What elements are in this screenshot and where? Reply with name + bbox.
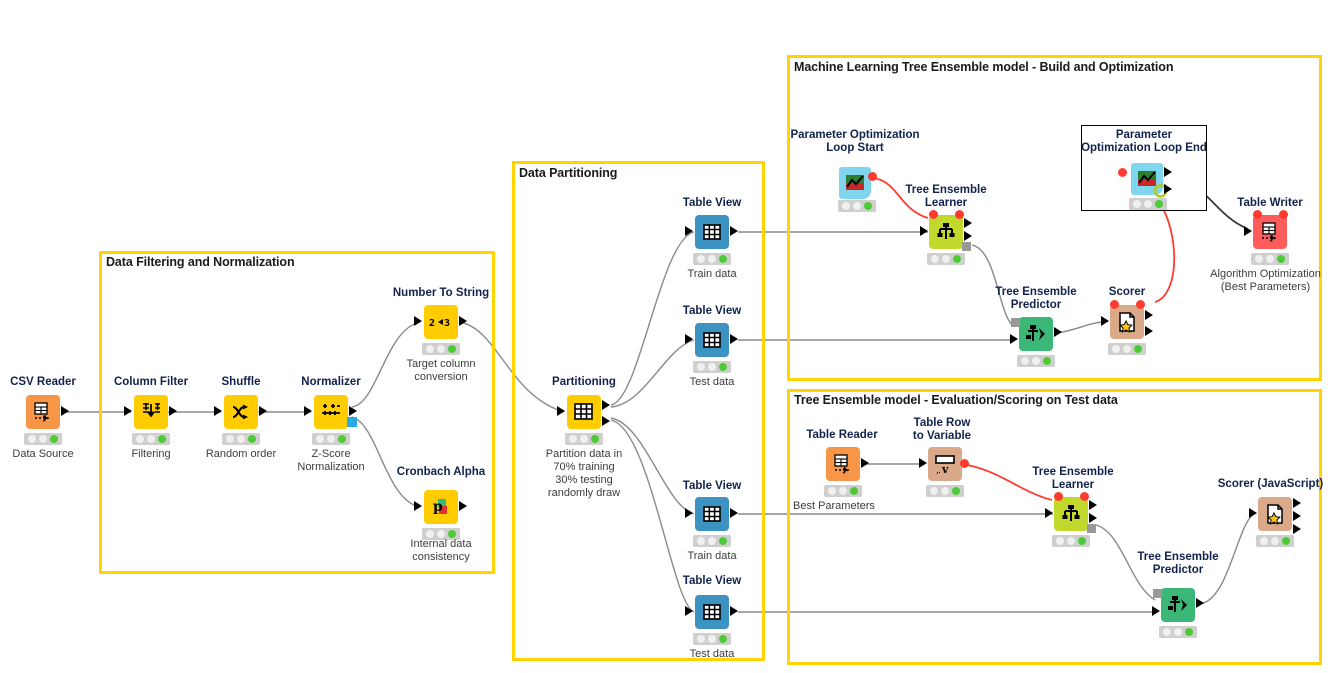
node-title-table-view-2: Table View xyxy=(660,305,764,318)
status-table-view-1 xyxy=(693,253,731,265)
port-out-cronbach-alpha[interactable] xyxy=(459,501,467,511)
node-table-reader[interactable] xyxy=(826,447,860,481)
node-title-table-reader: Table Reader xyxy=(790,429,894,442)
port-variable-out-tree-learner-2[interactable] xyxy=(1080,492,1089,501)
port-out-scorer-b[interactable] xyxy=(1145,326,1153,336)
status-table-reader xyxy=(824,485,862,497)
port-variable-in-param-loop-end[interactable] xyxy=(1118,168,1127,177)
status-scorer-javascript xyxy=(1256,535,1294,547)
node-tree-ensemble-learner-1[interactable] xyxy=(929,215,963,249)
node-title-table-row-to-variable: Table Row to Variable xyxy=(890,417,994,443)
port-in-scorer[interactable] xyxy=(1101,316,1109,326)
svg-text:2: 2 xyxy=(429,318,435,329)
node-title-shuffle: Shuffle xyxy=(191,376,291,389)
node-column-filter[interactable] xyxy=(134,395,168,429)
number-to-string-icon: 2 3 xyxy=(428,314,454,330)
node-sub-table-view-4: Test data xyxy=(660,648,764,661)
node-table-writer[interactable] xyxy=(1253,215,1287,249)
port-variable-in-tree-learner-2[interactable] xyxy=(1054,492,1063,501)
group-title-data-filtering: Data Filtering and Normalization xyxy=(103,255,298,269)
node-cronbach-alpha[interactable]: p xyxy=(424,490,458,524)
status-tree-predictor-1 xyxy=(1017,355,1055,367)
port-out-scorer-javascript-c[interactable] xyxy=(1293,524,1301,534)
status-table-row-to-variable xyxy=(926,485,964,497)
port-out-table-view-1[interactable] xyxy=(730,226,738,236)
node-title-csv-reader: CSV Reader xyxy=(0,376,86,389)
status-tree-predictor-2 xyxy=(1159,626,1197,638)
port-in-scorer-javascript[interactable] xyxy=(1249,508,1257,518)
node-title-column-filter: Column Filter xyxy=(101,376,201,389)
node-title-param-loop-end: Parameter Optimization Loop End xyxy=(1078,129,1210,155)
port-out-param-loop-end-a[interactable] xyxy=(1164,167,1172,177)
node-sub-shuffle: Random order xyxy=(191,448,291,461)
table-grid-icon xyxy=(702,602,722,622)
port-out-tree-predictor-1[interactable] xyxy=(1054,327,1062,337)
port-in-table-view-4[interactable] xyxy=(685,606,693,616)
tree-predict-icon xyxy=(1025,323,1047,345)
status-scorer xyxy=(1108,343,1146,355)
port-in-partitioning[interactable] xyxy=(557,406,565,416)
port-in-tree-predictor-1[interactable] xyxy=(1010,334,1018,344)
port-in-number-to-string[interactable] xyxy=(414,316,422,326)
svg-text:p: p xyxy=(433,499,443,515)
scorer-document-icon xyxy=(1264,503,1286,525)
node-tree-ensemble-learner-2[interactable] xyxy=(1054,497,1088,531)
port-out-csv-reader[interactable] xyxy=(61,406,69,416)
port-out-scorer-javascript-a[interactable] xyxy=(1293,498,1301,508)
node-title-table-view-3: Table View xyxy=(660,480,764,493)
status-table-view-2 xyxy=(693,361,731,373)
node-sub-normalizer: Z-Score Normalization xyxy=(281,448,381,474)
port-in-normalizer[interactable] xyxy=(304,406,312,416)
port-out-shuffle[interactable] xyxy=(259,406,267,416)
node-title-cronbach-alpha: Cronbach Alpha xyxy=(379,466,503,479)
status-param-loop-end xyxy=(1129,198,1167,210)
node-title-scorer-javascript: Scorer (JavaScript) xyxy=(1208,478,1333,491)
port-out-tree-learner-1-b[interactable] xyxy=(964,231,972,241)
node-sub-csv-reader: Data Source xyxy=(0,448,86,461)
port-variable-out-tree-learner-1[interactable] xyxy=(955,210,964,219)
port-out-tree-predictor-2[interactable] xyxy=(1196,598,1204,608)
port-model-out-tree-learner-2[interactable] xyxy=(1087,524,1096,533)
port-variable-out-param-loop-start[interactable] xyxy=(868,172,877,181)
node-sub-number-to-string: Target column conversion xyxy=(379,358,503,384)
tree-predict-icon xyxy=(1167,594,1189,616)
node-sub-partitioning: Partition data in 70% training 30% testi… xyxy=(520,448,648,500)
port-out-scorer-javascript-b[interactable] xyxy=(1293,511,1301,521)
node-title-tree-learner-1: Tree Ensemble Learner xyxy=(888,184,1004,210)
node-title-table-writer: Table Writer xyxy=(1215,197,1325,210)
node-title-param-loop-start: Parameter Optimization Loop Start xyxy=(782,129,928,155)
port-out-number-to-string[interactable] xyxy=(459,316,467,326)
status-normalizer xyxy=(312,433,350,445)
port-out-column-filter[interactable] xyxy=(169,406,177,416)
cronbach-alpha-icon: p xyxy=(430,496,452,518)
port-model-in-tree-predictor-2[interactable] xyxy=(1153,589,1162,598)
table-arrow-icon xyxy=(32,401,54,423)
port-out-param-loop-end-b[interactable] xyxy=(1164,184,1172,194)
node-sub-table-view-2: Test data xyxy=(660,376,764,389)
table-grid-icon xyxy=(702,330,722,350)
port-out-tree-learner-1-a[interactable] xyxy=(964,218,972,228)
normalize-icon xyxy=(320,401,342,423)
node-table-row-to-variable[interactable]: . v , xyxy=(928,447,962,481)
status-table-view-3 xyxy=(693,535,731,547)
port-variable-out-table-writer[interactable] xyxy=(1279,210,1288,219)
group-title-evaluation: Tree Ensemble model - Evaluation/Scoring… xyxy=(791,393,1121,407)
node-number-to-string[interactable]: 2 3 xyxy=(424,305,458,339)
status-tree-learner-1 xyxy=(927,253,965,265)
tree-model-icon xyxy=(1060,503,1082,525)
port-in-tree-predictor-2[interactable] xyxy=(1152,606,1160,616)
node-table-view-2[interactable] xyxy=(695,323,729,357)
node-shuffle[interactable] xyxy=(224,395,258,429)
node-tree-ensemble-predictor-1[interactable] xyxy=(1019,317,1053,351)
status-column-filter xyxy=(132,433,170,445)
table-read-icon xyxy=(832,453,854,475)
port-variable-out-scorer[interactable] xyxy=(1136,300,1145,309)
port-out-partitioning-test[interactable] xyxy=(602,416,610,426)
chart-line-icon xyxy=(844,172,866,194)
node-sub-cronbach-alpha: Internal data consistency xyxy=(379,538,503,564)
node-title-tree-predictor-1: Tree Ensemble Predictor xyxy=(978,286,1094,312)
status-tree-learner-2 xyxy=(1052,535,1090,547)
node-table-view-3[interactable] xyxy=(695,497,729,531)
node-partitioning[interactable] xyxy=(567,395,601,429)
status-shuffle xyxy=(222,433,260,445)
port-out-table-view-3[interactable] xyxy=(730,508,738,518)
status-table-writer xyxy=(1251,253,1289,265)
port-variable-out-table-row-to-variable[interactable] xyxy=(960,459,969,468)
row-to-variable-icon: . v , xyxy=(934,453,956,475)
port-model-in-tree-predictor-1[interactable] xyxy=(1011,318,1020,327)
status-csv-reader xyxy=(24,433,62,445)
port-in-shuffle[interactable] xyxy=(214,406,222,416)
port-in-tree-learner-2[interactable] xyxy=(1045,508,1053,518)
node-table-view-1[interactable] xyxy=(695,215,729,249)
node-title-scorer: Scorer xyxy=(1080,286,1174,299)
tree-model-icon xyxy=(935,221,957,243)
port-out-tree-learner-2-a[interactable] xyxy=(1089,500,1097,510)
node-title-tree-learner-2: Tree Ensemble Learner xyxy=(1015,466,1131,492)
node-sub-column-filter: Filtering xyxy=(101,448,201,461)
status-table-view-4 xyxy=(693,633,731,645)
port-variable-in-table-writer[interactable] xyxy=(1253,210,1262,219)
node-sub-table-view-3: Train data xyxy=(660,550,764,563)
port-out-tree-learner-2-b[interactable] xyxy=(1089,513,1097,523)
table-write-icon xyxy=(1259,221,1281,243)
port-in-table-view-3[interactable] xyxy=(685,508,693,518)
node-normalizer[interactable] xyxy=(314,395,348,429)
port-variable-in-tree-learner-1[interactable] xyxy=(929,210,938,219)
port-out-table-view-4[interactable] xyxy=(730,606,738,616)
port-variable-in-scorer[interactable] xyxy=(1110,300,1119,309)
port-in-table-view-1[interactable] xyxy=(685,226,693,236)
status-number-to-string xyxy=(422,343,460,355)
group-title-data-partitioning: Data Partitioning xyxy=(516,166,620,180)
filter-funnel-icon xyxy=(140,401,162,423)
node-title-partitioning: Partitioning xyxy=(528,376,640,389)
port-in-column-filter[interactable] xyxy=(124,406,132,416)
table-grid-icon xyxy=(702,222,722,242)
node-title-table-view-4: Table View xyxy=(660,575,764,588)
svg-text:,: , xyxy=(936,466,939,475)
shuffle-icon xyxy=(230,401,252,423)
table-split-icon xyxy=(573,401,595,423)
node-tree-ensemble-predictor-2[interactable] xyxy=(1161,588,1195,622)
status-param-loop-start xyxy=(838,200,876,212)
workflow-canvas[interactable]: Data Filtering and Normalization Data Pa… xyxy=(0,0,1333,673)
port-variable-out-normalizer[interactable] xyxy=(347,417,357,427)
port-in-table-view-2[interactable] xyxy=(685,334,693,344)
port-out-partitioning-train[interactable] xyxy=(602,400,610,410)
port-out-scorer-a[interactable] xyxy=(1145,310,1153,320)
node-title-number-to-string: Number To String xyxy=(379,287,503,300)
node-title-tree-predictor-2: Tree Ensemble Predictor xyxy=(1120,551,1236,577)
port-in-tree-learner-1[interactable] xyxy=(920,226,928,236)
svg-text:v: v xyxy=(941,463,949,475)
port-model-out-tree-learner-1[interactable] xyxy=(962,242,971,251)
node-scorer-javascript[interactable] xyxy=(1258,497,1292,531)
annotation-best-parameters: Best Parameters xyxy=(793,500,875,512)
table-grid-icon xyxy=(702,504,722,524)
node-title-table-view-1: Table View xyxy=(660,197,764,210)
group-title-ml-build: Machine Learning Tree Ensemble model - B… xyxy=(791,60,1176,74)
port-in-cronbach-alpha[interactable] xyxy=(414,501,422,511)
scorer-document-icon xyxy=(1116,311,1138,333)
port-out-table-reader[interactable] xyxy=(861,458,869,468)
port-in-table-writer[interactable] xyxy=(1244,226,1252,236)
port-out-table-view-2[interactable] xyxy=(730,334,738,344)
port-in-table-row-to-variable[interactable] xyxy=(919,458,927,468)
node-table-view-4[interactable] xyxy=(695,595,729,629)
port-out-normalizer[interactable] xyxy=(349,406,357,416)
node-sub-table-view-1: Train data xyxy=(660,268,764,281)
node-csv-reader[interactable] xyxy=(26,395,60,429)
node-title-normalizer: Normalizer xyxy=(281,376,381,389)
svg-text:3: 3 xyxy=(444,318,450,329)
node-param-optimization-loop-start[interactable] xyxy=(839,167,871,199)
node-scorer[interactable] xyxy=(1110,305,1144,339)
node-sub-table-writer: Algorithm Optimization (Best Parameters) xyxy=(1198,268,1333,294)
status-partitioning xyxy=(565,433,603,445)
